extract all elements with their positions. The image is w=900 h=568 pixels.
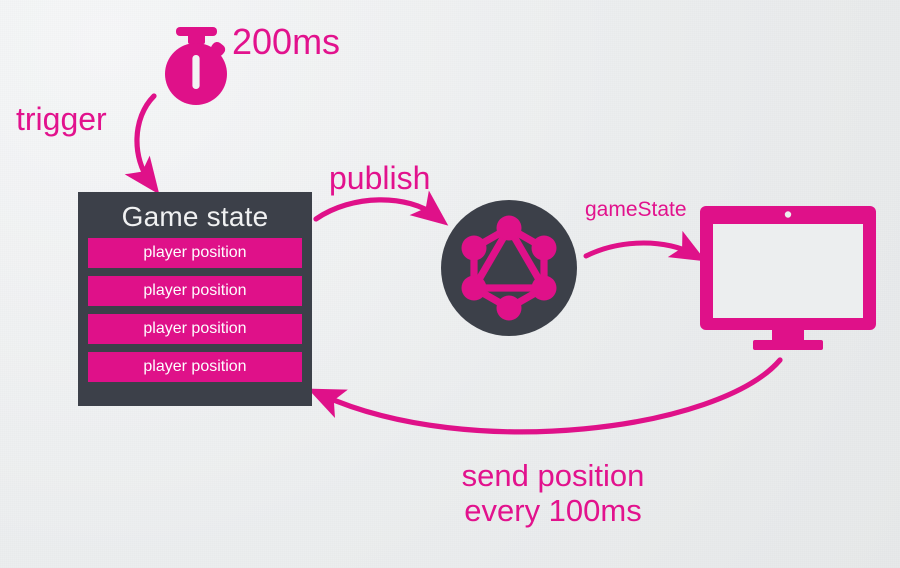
trigger-label: trigger [16, 102, 107, 138]
list-item: player position [88, 352, 302, 382]
list-item: player position [88, 276, 302, 306]
stopwatch-icon [165, 27, 227, 105]
send-position-arrow [322, 360, 780, 432]
trigger-arrow [137, 96, 154, 182]
panel-title: Game state [88, 198, 302, 236]
gamestate-arrow [586, 243, 693, 256]
list-item: player position [88, 238, 302, 268]
publish-label: publish [329, 161, 430, 197]
diagram-canvas: Game state player position player positi… [0, 0, 900, 568]
gamestate-label: gameState [585, 198, 687, 222]
send-position-line-1: send position [462, 458, 645, 493]
timer-value-label: 200ms [232, 22, 340, 62]
list-item: player position [88, 314, 302, 344]
desktop-monitor-icon [700, 206, 876, 350]
game-state-panel: Game state player position player positi… [78, 192, 312, 406]
send-position-line-2: every 100ms [440, 494, 666, 529]
publish-arrow [316, 200, 436, 219]
send-position-label: send position every 100ms [440, 459, 666, 528]
graphql-logo-icon [441, 200, 577, 336]
player-position-list: player position player position player p… [88, 238, 302, 382]
